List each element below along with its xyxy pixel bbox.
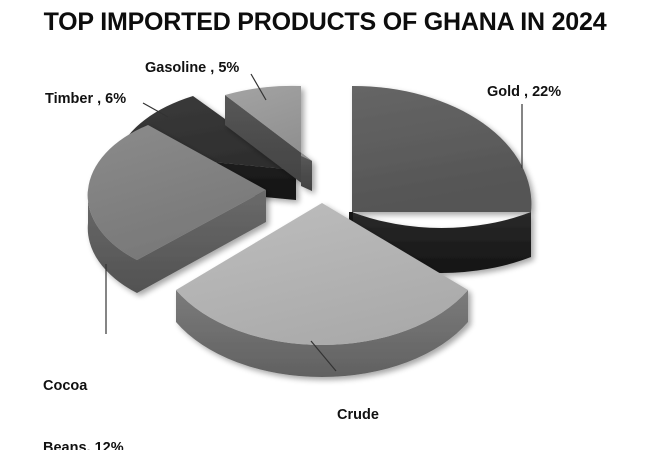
pie-label-cocoa-beans: Cocoa Beans, 12% xyxy=(43,335,124,450)
pie-label-gold: Gold , 22% xyxy=(487,82,561,103)
pie-label-crude-oil: Crude Oil , 15% xyxy=(337,364,397,450)
pie-slice-gold-top xyxy=(352,86,531,212)
pie-slice-gasoline-side-right xyxy=(301,156,312,191)
pie-label-timber: Timber , 6% xyxy=(45,89,126,110)
pie-label-gasoline: Gasoline , 5% xyxy=(145,58,239,79)
pie-label-cocoa-beans-line1: Cocoa xyxy=(43,376,124,397)
pie-label-crude-oil-line1: Crude xyxy=(337,405,397,426)
pie-label-cocoa-beans-line2: Beans, 12% xyxy=(43,438,124,450)
chart-canvas: TOP IMPORTED PRODUCTS OF GHANA IN 2024 xyxy=(0,0,650,450)
